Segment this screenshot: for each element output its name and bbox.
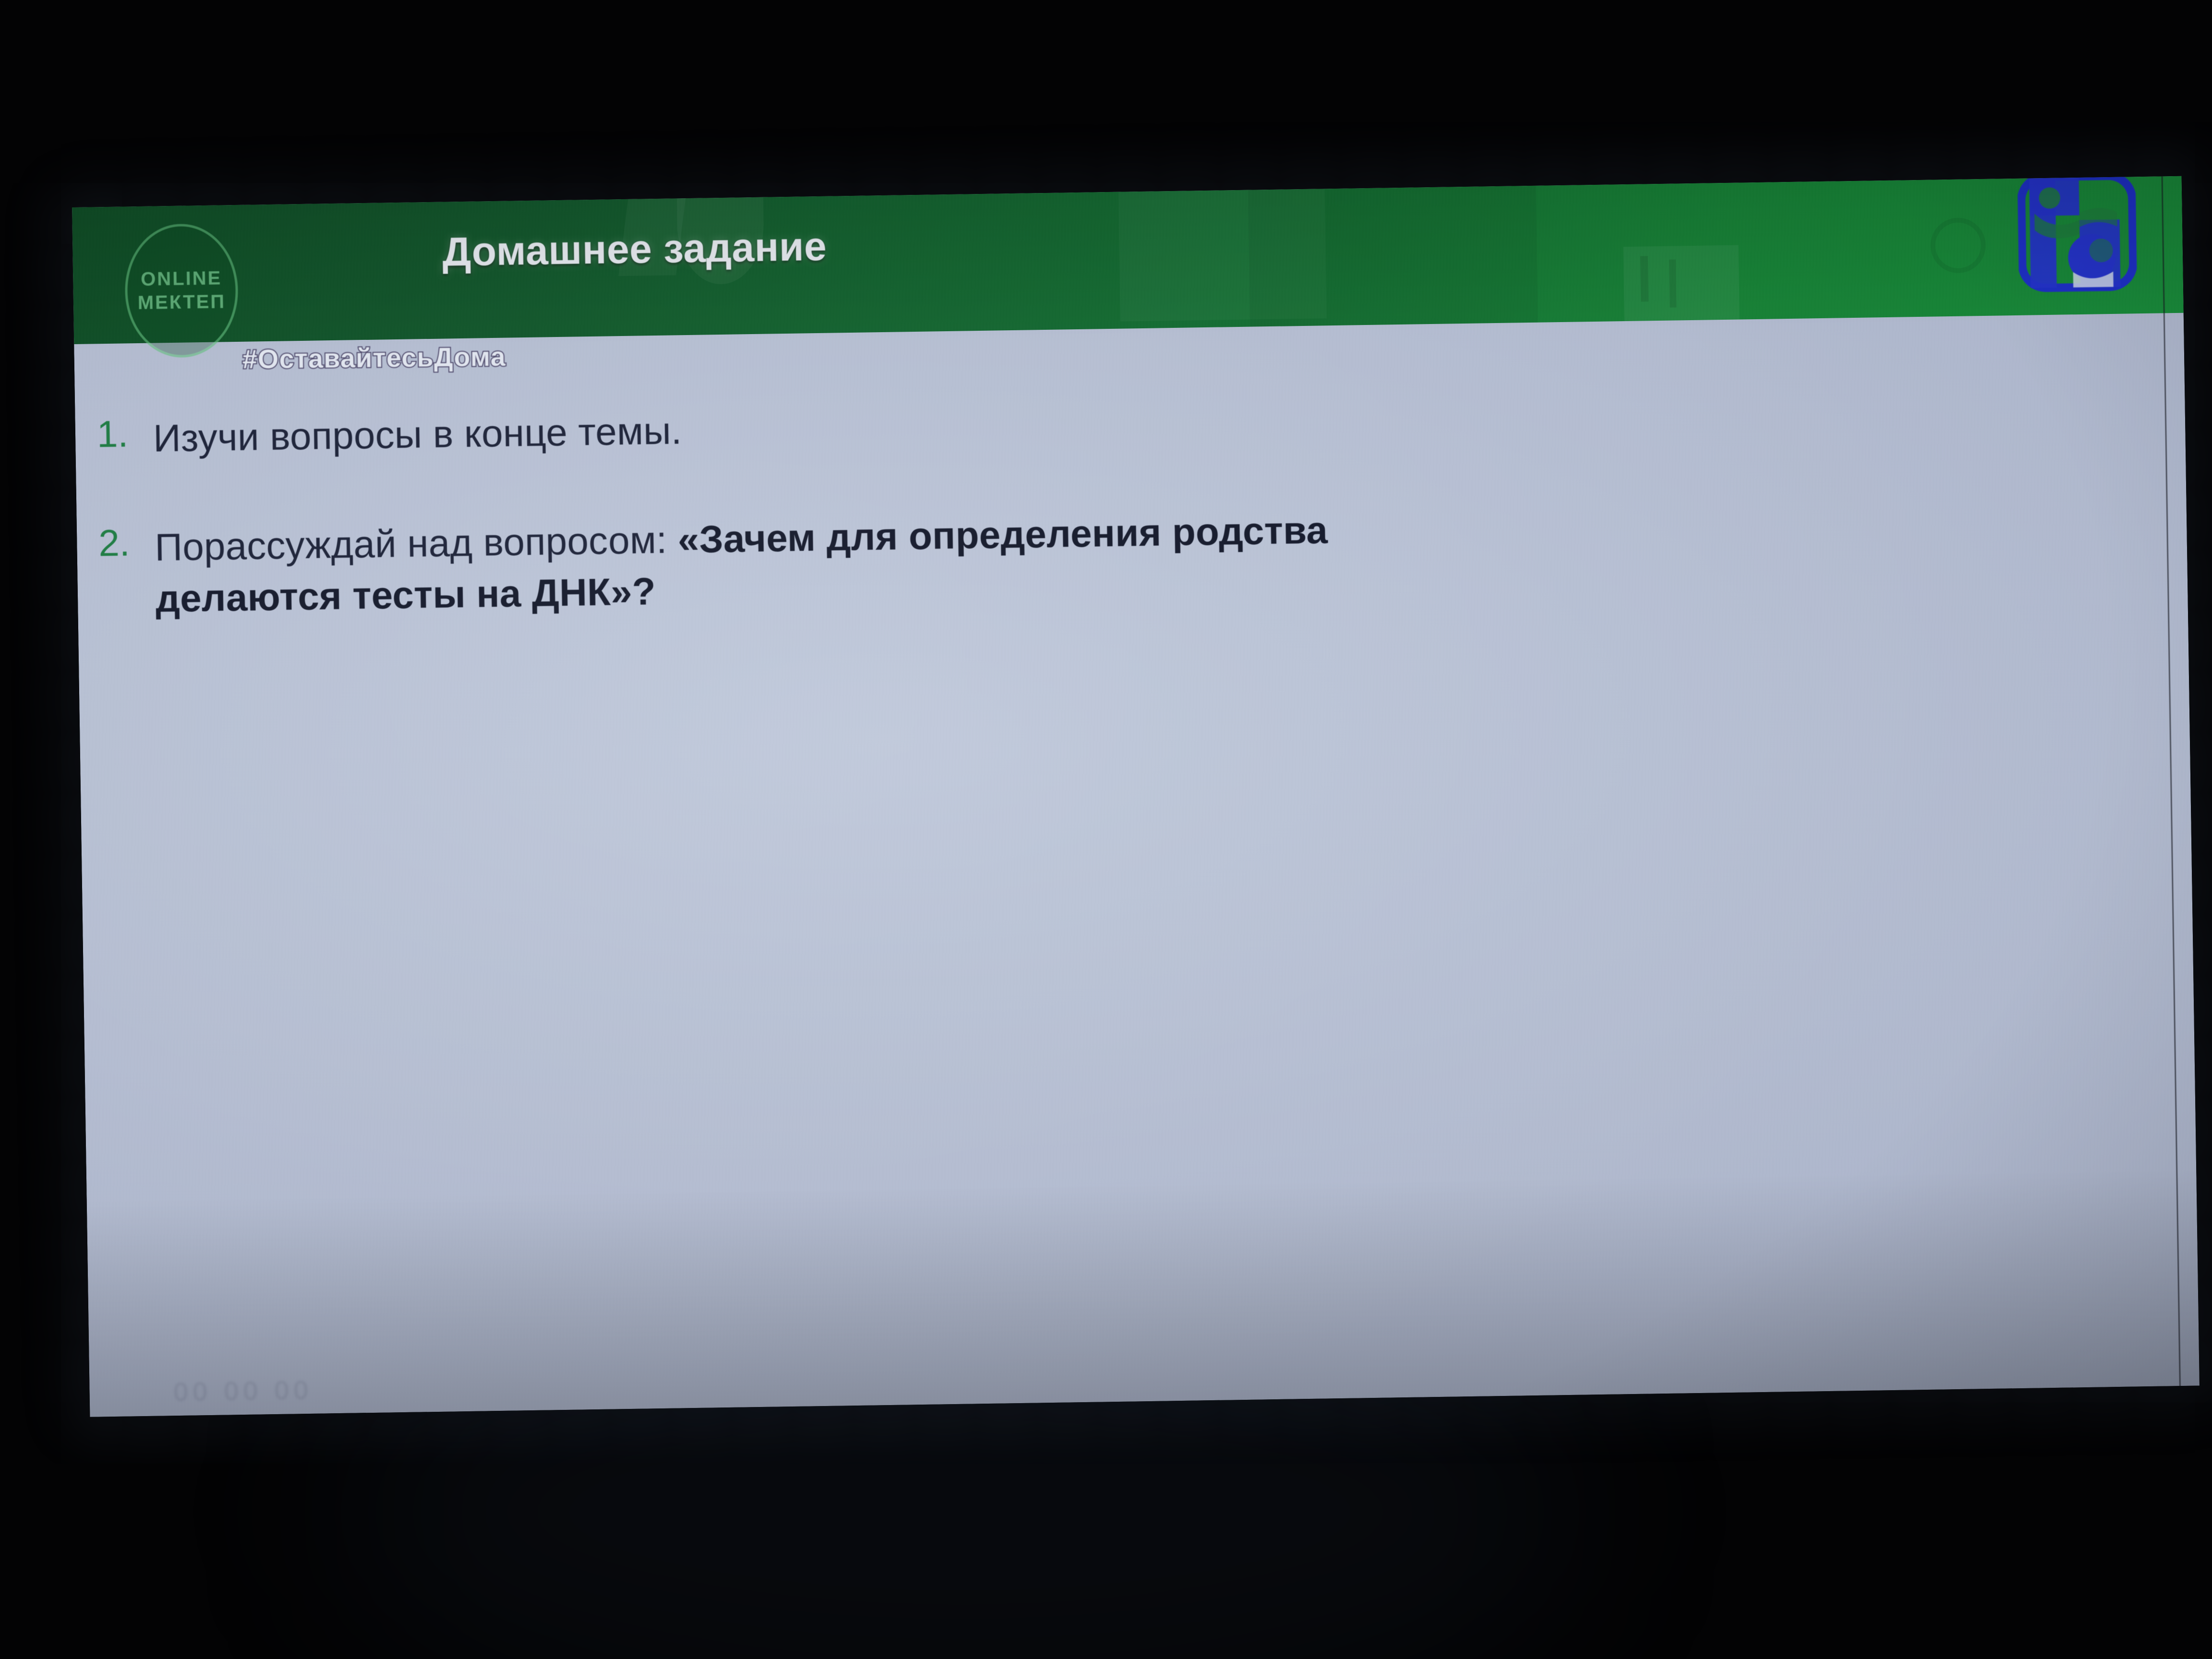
list-item-text-plain: Порассуждай над вопросом: — [155, 518, 678, 569]
list-item-text: Порассуждай над вопросом: «Зачем для опр… — [155, 503, 1404, 625]
list-item: 2. Порассуждай над вопросом: «Зачем для … — [77, 492, 2188, 626]
ea-brand-logo — [2017, 176, 2137, 293]
list-item-text-plain: Изучи вопросы в конце темы. — [153, 409, 682, 459]
header-ghost-shape-7 — [1930, 217, 1986, 274]
ea-logo-icon — [2017, 176, 2137, 293]
header-ghost-shape-6 — [1669, 259, 1676, 307]
header-ghost-shape-4 — [1623, 245, 1740, 324]
list-item-number: 1. — [75, 413, 128, 456]
header-ghost-shape-5 — [1640, 256, 1648, 301]
header-ghost-shape-3 — [1118, 176, 1326, 322]
logo-line-mektep: МЕКТЕП — [137, 290, 226, 315]
homework-list: 1. Изучи вопросы в конце темы. 2. Порасс… — [75, 383, 2188, 684]
header-ghost-shape-8 — [1248, 176, 1538, 339]
list-item-number: 2. — [77, 522, 130, 565]
slide-screen: ONLINE МЕКТЕП Домашнее задание — [72, 176, 2200, 1417]
hashtag-stay-home: #ОставайтесьДома — [242, 341, 506, 375]
logo-line-online: ONLINE — [141, 267, 222, 291]
photo-of-screen: ONLINE МЕКТЕП Домашнее задание — [0, 0, 2212, 1659]
page-title: Домашнее задание — [442, 223, 827, 276]
